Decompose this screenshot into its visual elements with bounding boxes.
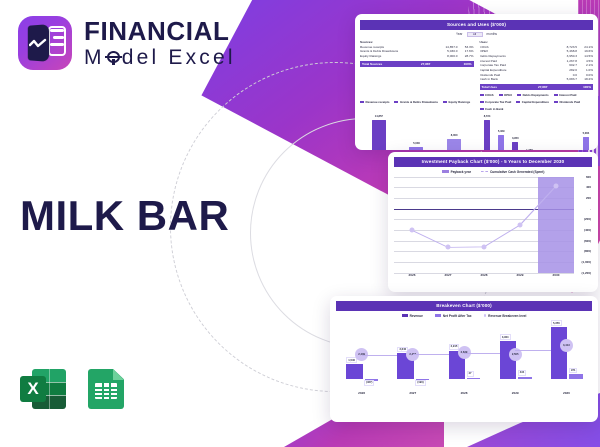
net-profit-bar: [569, 374, 582, 379]
y-axis-tick: (1,000): [581, 260, 591, 264]
financial-model-excel-logo-icon: [18, 16, 72, 70]
payback-legend-item-0: Payback year: [442, 170, 471, 174]
logo-chart-line-icon: [29, 38, 47, 48]
data-point: [482, 244, 487, 249]
breakeven-legend-item-1: Net Profit After Tax: [435, 314, 472, 318]
breakeven-legend-item-2: Revenue Breakeven level: [484, 314, 527, 318]
file-format-icons: X: [20, 366, 126, 412]
net-profit-bar: [518, 377, 531, 379]
data-point: [410, 228, 415, 233]
breakeven-legend-item-0: Revenue: [402, 314, 423, 318]
net-profit-value-label: 434: [518, 370, 526, 376]
payback-x-axis: 20262027202820292030: [394, 273, 574, 277]
breakeven-title: Breakeven Chart ($'000): [336, 301, 592, 311]
x-axis-tick: 2029: [502, 273, 538, 277]
bar: 8,724: [484, 120, 490, 150]
bar-value-label: 8,000: [451, 134, 458, 137]
breakeven-plot-area: 1,540(467)2,4392,640(190)2,4572,915472,6…: [336, 321, 592, 395]
payback-plot-area: 600400200-(200)(400)(600)(800)(1,000)(1,…: [394, 177, 574, 273]
legend-item: Revenue receipts: [360, 93, 389, 111]
net-profit-value-label: 971: [569, 368, 577, 374]
legend-item: Dividends Paid: [554, 100, 580, 104]
breakeven-legend: Revenue Net Profit After Tax Revenue Bre…: [336, 314, 592, 318]
bar-value-label: 5,030: [413, 142, 420, 145]
bar-value-label: 14,857: [375, 115, 383, 118]
sources-bar-chart: 14,8575,0308,000: [360, 113, 473, 150]
brand-wordmark: FINANCIAL M del Excel: [84, 18, 236, 68]
bar-value-label: 5,469: [498, 130, 505, 133]
bar-value-label: 8,724: [484, 115, 491, 118]
bar-value-label: 5,084: [583, 132, 590, 135]
excel-x-letter: X: [20, 376, 46, 402]
logo-o-glyph-icon: [106, 50, 121, 65]
uses-bar-chart: 8,7245,4693,9501,268603282-5,084: [480, 113, 593, 150]
y-axis-tick: 400: [586, 185, 591, 189]
legend-item: Capital Expenditure: [516, 100, 549, 104]
year-input[interactable]: All: [467, 32, 483, 37]
y-axis-tick: (400): [584, 228, 591, 232]
months-label: months: [487, 32, 497, 36]
breakeven-x-axis: 20262027202820292030: [336, 391, 592, 395]
bar: 5,030: [409, 147, 423, 150]
uses-total-amount: 27,887: [527, 85, 547, 89]
y-axis-tick: -: [590, 207, 591, 211]
sheets-grid-glyph: [95, 383, 117, 399]
uses-legend: COGSOPEXDebts RepaymentsInterest PaidCor…: [480, 93, 594, 111]
investment-payback-title: Investment Payback Chart ($'000) - 5 Yea…: [394, 157, 592, 167]
sources-legend: Revenue receiptsGrants & Debts Drawdowns…: [360, 93, 474, 111]
bar: 5,469: [498, 135, 504, 150]
bar-value-label: 3,950: [512, 137, 519, 140]
microsoft-excel-icon[interactable]: X: [20, 366, 66, 412]
x-axis-tick: 2028: [438, 391, 489, 395]
legend-item: OPEX: [499, 93, 513, 97]
brand-line-2: M del Excel: [84, 47, 236, 68]
sources-header: Sources:: [360, 40, 474, 44]
poster-canvas: FINANCIAL M del Excel MILK BAR X Sour: [0, 0, 600, 447]
bar: 3,950: [512, 142, 518, 150]
uses-total-row: Total Uses 27,887 100%: [480, 84, 594, 90]
bar-value-label: 1,268: [526, 149, 533, 150]
legend-item: Interest Paid: [554, 93, 577, 97]
table-row: Equity Raisings8,000.028.7%: [360, 54, 474, 59]
net-profit-value-label: (190): [415, 380, 425, 386]
investment-payback-card[interactable]: Investment Payback Chart ($'000) - 5 Yea…: [388, 152, 598, 292]
net-profit-bar: [467, 378, 480, 379]
y-axis-tick: (800): [584, 249, 591, 253]
table-row: Cash in Bank5,083.718.2%: [480, 77, 594, 82]
page-title: MILK BAR: [20, 192, 229, 240]
uses-total-pct: 100%: [578, 85, 591, 89]
sources-total-label: Total Sources: [362, 62, 382, 66]
bar: 14,857: [372, 120, 386, 150]
sources-uses-mini-charts: 14,8575,0308,000 8,7245,4693,9501,268603…: [360, 113, 593, 150]
revenue-bar: [551, 327, 567, 379]
sources-total-row: Total Sources 27,887 100%: [360, 61, 474, 67]
uses-column: Uses: COGS8,723.524.1%OPEX5,468.819.6%De…: [480, 40, 594, 91]
sources-column: Sources: Revenue receipts14,857.053.3%Gr…: [360, 40, 474, 91]
brand-line-1: FINANCIAL: [84, 18, 236, 44]
sources-and-uses-card[interactable]: Sources and Uses ($'000) Year All months…: [355, 14, 598, 150]
net-profit-value-label: 47: [467, 371, 474, 377]
year-label: Year: [456, 32, 462, 36]
brand-logo: FINANCIAL M del Excel: [18, 16, 236, 70]
x-axis-tick: 2026: [336, 391, 387, 395]
bar: 8,000: [447, 139, 461, 150]
legend-item: Debts Repayments: [517, 93, 549, 97]
breakeven-level-marker: 2,457: [406, 348, 419, 361]
sources-total-pct: 100%: [458, 62, 471, 66]
legend-item: Grants & Debts Drawdowns: [394, 93, 438, 111]
x-axis-tick: 2030: [538, 273, 574, 277]
revenue-value-label: 5,356: [551, 320, 562, 326]
google-sheets-icon[interactable]: [86, 366, 126, 412]
legend-item: Corporate Tax Paid: [480, 100, 512, 104]
breakeven-level-marker: 3,413: [560, 339, 573, 352]
data-point: [518, 222, 523, 227]
payback-legend: Payback year Cumulative Cash Generated (…: [394, 170, 592, 174]
y-axis-tick: (1,200): [581, 271, 591, 275]
revenue-bar: [346, 364, 362, 379]
legend-item: Cash in Bank: [480, 107, 504, 111]
revenue-value-label: 3,904: [500, 334, 511, 340]
y-axis-tick: (600): [584, 239, 591, 243]
sources-total-amount: 27,887: [410, 62, 430, 66]
y-axis-tick: 600: [586, 175, 591, 179]
y-axis-tick: (200): [584, 217, 591, 221]
sources-and-uses-title: Sources and Uses ($'000): [360, 20, 593, 30]
uses-total-label: Total Uses: [482, 85, 497, 89]
logo-text-lines: [50, 29, 64, 46]
x-axis-tick: 2027: [430, 273, 466, 277]
legend-item: COGS: [480, 93, 494, 97]
sources-and-uses-tables: Sources: Revenue receipts14,857.053.3%Gr…: [360, 40, 593, 91]
x-axis-tick: 2026: [394, 273, 430, 277]
y-axis-tick: 200: [586, 196, 591, 200]
bar: 5,084: [583, 137, 589, 150]
legend-item: Equity Raisings: [443, 93, 470, 111]
brand-line-2-before: M: [84, 47, 105, 68]
x-axis-tick: 2030: [541, 391, 592, 395]
cumulative-cash-line: [394, 177, 574, 273]
uses-header: Uses:: [480, 40, 594, 44]
payback-legend-item-1: Cumulative Cash Generated (Spent): [481, 170, 544, 174]
brand-line-2-after: del Excel: [122, 47, 236, 68]
x-axis-tick: 2027: [387, 391, 438, 395]
x-axis-tick: 2028: [466, 273, 502, 277]
data-point: [554, 183, 559, 188]
net-profit-value-label: (467): [364, 380, 374, 386]
data-point: [446, 245, 451, 250]
x-axis-tick: 2029: [490, 391, 541, 395]
breakeven-card[interactable]: Breakeven Chart ($'000) Revenue Net Prof…: [330, 296, 598, 422]
year-filter-row[interactable]: Year All months: [360, 32, 593, 37]
